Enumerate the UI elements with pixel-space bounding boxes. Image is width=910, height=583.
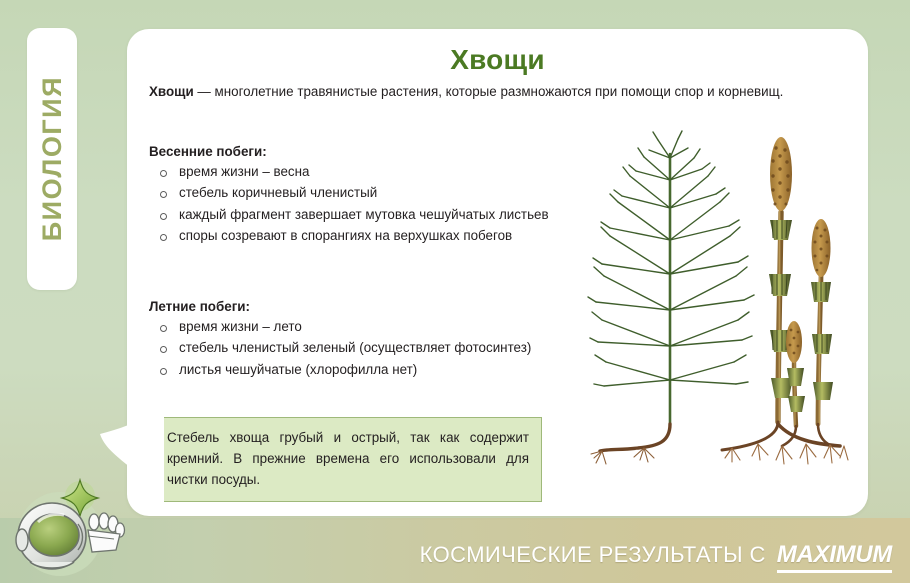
section-heading-summer: Летние побеги:: [149, 299, 569, 314]
slide: БИОЛОГИЯ Хвощи Хвощи — многолетние травя…: [0, 0, 910, 583]
fact-callout: Стебель хвоща грубый и острый, так как с…: [154, 417, 542, 502]
content-card: Хвощи Хвощи — многолетние травянистые ра…: [127, 29, 868, 516]
maximum-logo: MAXIMUM: [777, 541, 892, 573]
horsetail-illustration: [582, 124, 850, 494]
list-item: время жизни – весна: [149, 162, 569, 182]
footer-branding: КОСМИЧЕСКИЕ РЕЗУЛЬТАТЫ С MAXIMUM: [420, 541, 892, 573]
footer-tagline: КОСМИЧЕСКИЕ РЕЗУЛЬТАТЫ С: [420, 542, 766, 568]
bullet-list-spring: время жизни – весна стебель коричневый ч…: [149, 162, 569, 247]
intro-paragraph: Хвощи — многолетние травянистые растения…: [149, 82, 841, 103]
list-item: споры созревают в спорангиях на верхушка…: [149, 226, 569, 246]
list-item: стебель коричневый членистый: [149, 183, 569, 203]
bullet-list-summer: время жизни – лето стебель членистый зел…: [149, 317, 569, 380]
list-item: каждый фрагмент завершает мутовка чешуйч…: [149, 205, 569, 225]
section-summer-shoots: Летние побеги: время жизни – лето стебел…: [149, 299, 569, 381]
page-title: Хвощи: [127, 44, 868, 76]
intro-lead-term: Хвощи: [149, 84, 194, 99]
section-heading-spring: Весенние побеги:: [149, 144, 569, 159]
subject-tab-label: БИОЛОГИЯ: [39, 76, 66, 241]
subject-tab[interactable]: БИОЛОГИЯ: [27, 28, 77, 290]
astronaut-glove: [88, 513, 125, 552]
section-spring-shoots: Весенние побеги: время жизни – весна сте…: [149, 144, 569, 248]
list-item: время жизни – лето: [149, 317, 569, 337]
intro-rest: — многолетние травянистые растения, кото…: [194, 84, 784, 99]
list-item: листья чешуйчатые (хлорофилла нет): [149, 360, 569, 380]
list-item: стебель членистый зеленый (осуществляет …: [149, 338, 569, 358]
astronaut-mascot: [8, 478, 128, 578]
